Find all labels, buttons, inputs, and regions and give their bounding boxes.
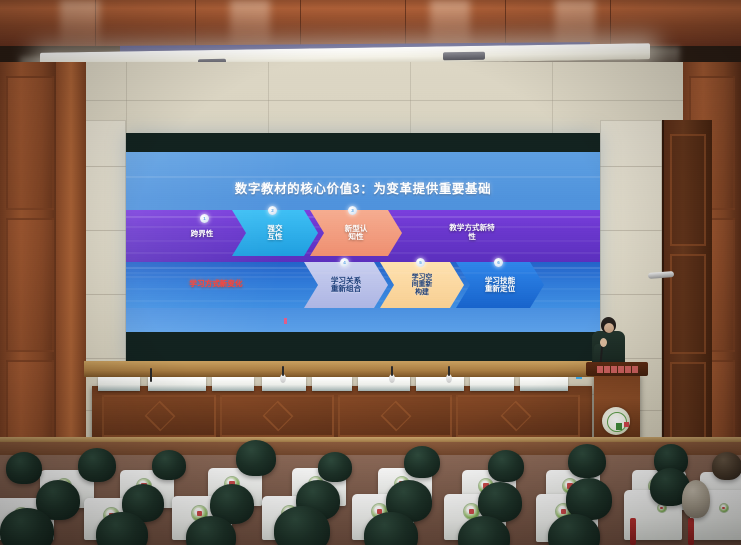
podium-nameplate-text [588, 364, 646, 374]
audience-head [6, 452, 42, 484]
audience-head [682, 480, 710, 518]
slide-badge-6: 6 [494, 258, 503, 267]
table-microphone [448, 366, 450, 376]
slide-item-xuexifangshixinbianhua: 学习方式新变化 [160, 280, 272, 289]
table-microphone [150, 368, 152, 382]
slide-item-jiaoxuefangshixintexing: 教学方式新特 性 [426, 224, 518, 241]
chair-back-post [630, 518, 636, 545]
stage-back-trim [84, 361, 600, 377]
table-microphone [391, 366, 393, 376]
slide-badge-3: 3 [348, 206, 357, 215]
slide-item-kuajiexing: 跨界性 [174, 230, 230, 239]
audience-head [568, 444, 606, 478]
slide-canvas: 数字教材的核心价值3：为变革提供重要基础 跨界性 1 [126, 152, 600, 332]
ceiling-projector-mount [443, 52, 485, 61]
slide-badge-2: 2 [268, 206, 277, 215]
slide-badge-1: 1 [200, 214, 209, 223]
slide-badge-4: 4 [340, 258, 349, 267]
table-name-card [212, 377, 254, 391]
audience-head [236, 440, 276, 476]
podium-emblem-icon [602, 407, 630, 435]
audience-head [712, 452, 741, 480]
conference-hall-photo: 数字教材的核心价值3：为变革提供重要基础 跨界性 1 [0, 0, 741, 545]
slide-badge-5: 5 [416, 258, 425, 267]
left-wood-pillar-inner [56, 62, 86, 462]
slide-band-bottom [126, 308, 600, 332]
slide-cursor-marker [284, 318, 287, 324]
table-name-card [312, 377, 352, 391]
audience-head [152, 450, 186, 480]
table-name-card [98, 377, 140, 391]
table-name-card [470, 377, 514, 391]
chair-back-post [688, 518, 694, 545]
table-name-card [148, 377, 206, 391]
audience-head [318, 452, 352, 482]
left-wood-pillar [0, 62, 60, 462]
table-microphone [282, 366, 284, 376]
presenter-face [604, 323, 614, 333]
ceiling-wood-panel [0, 0, 741, 46]
presentation-screen: 数字教材的核心价值3：为变革提供重要基础 跨界性 1 [126, 133, 600, 361]
audience-head [404, 446, 440, 478]
table-name-card [520, 377, 568, 391]
table-name-card [358, 377, 410, 391]
side-door[interactable] [662, 120, 712, 450]
head-table [92, 386, 592, 442]
table-name-card [416, 377, 464, 391]
slide-title: 数字教材的核心价值3：为变革提供重要基础 [126, 178, 600, 197]
audience-head [78, 448, 116, 482]
audience-head [488, 450, 524, 482]
presenter-hand [600, 338, 607, 347]
